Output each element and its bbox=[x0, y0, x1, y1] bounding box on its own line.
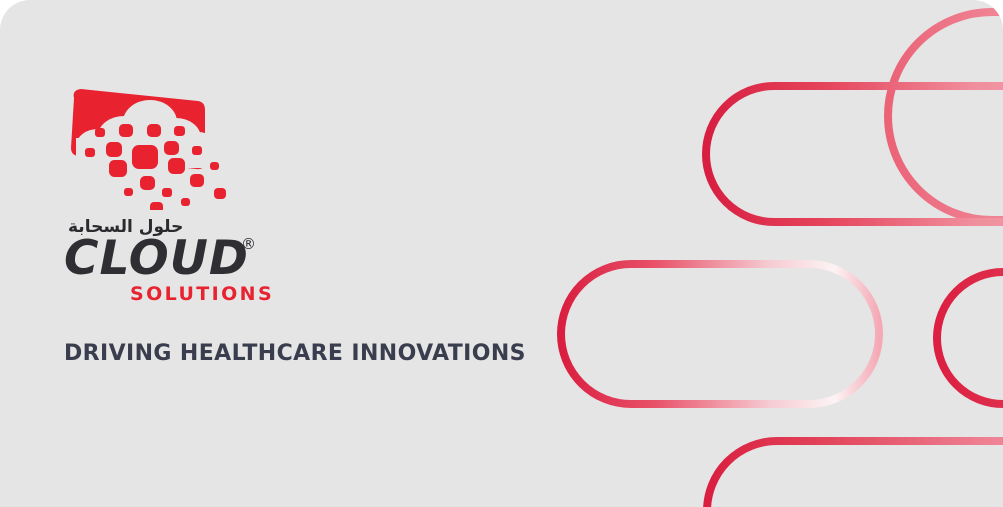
cloud-pixel-logo-mark bbox=[64, 84, 240, 210]
pill-middle-right bbox=[937, 272, 1003, 404]
pill-top-right-upper bbox=[888, 12, 1003, 220]
pill-top-main bbox=[706, 86, 1003, 222]
registered-trademark-icon: ® bbox=[241, 237, 256, 252]
tagline-text: DRIVING HEALTHCARE INNOVATIONS bbox=[64, 341, 526, 366]
logo-wordmark: حلول السحابة CLOUD ® SOLUTIONS bbox=[64, 217, 264, 295]
pill-bottom-right bbox=[707, 441, 1003, 507]
company-name-cloud: CLOUD bbox=[64, 234, 249, 284]
banner-canvas: حلول السحابة CLOUD ® SOLUTIONS DRIVING H… bbox=[0, 0, 1003, 507]
company-descriptor-solutions: SOLUTIONS bbox=[130, 284, 274, 304]
brand-block: حلول السحابة CLOUD ® SOLUTIONS bbox=[64, 84, 494, 295]
pill-middle-center bbox=[561, 264, 879, 404]
